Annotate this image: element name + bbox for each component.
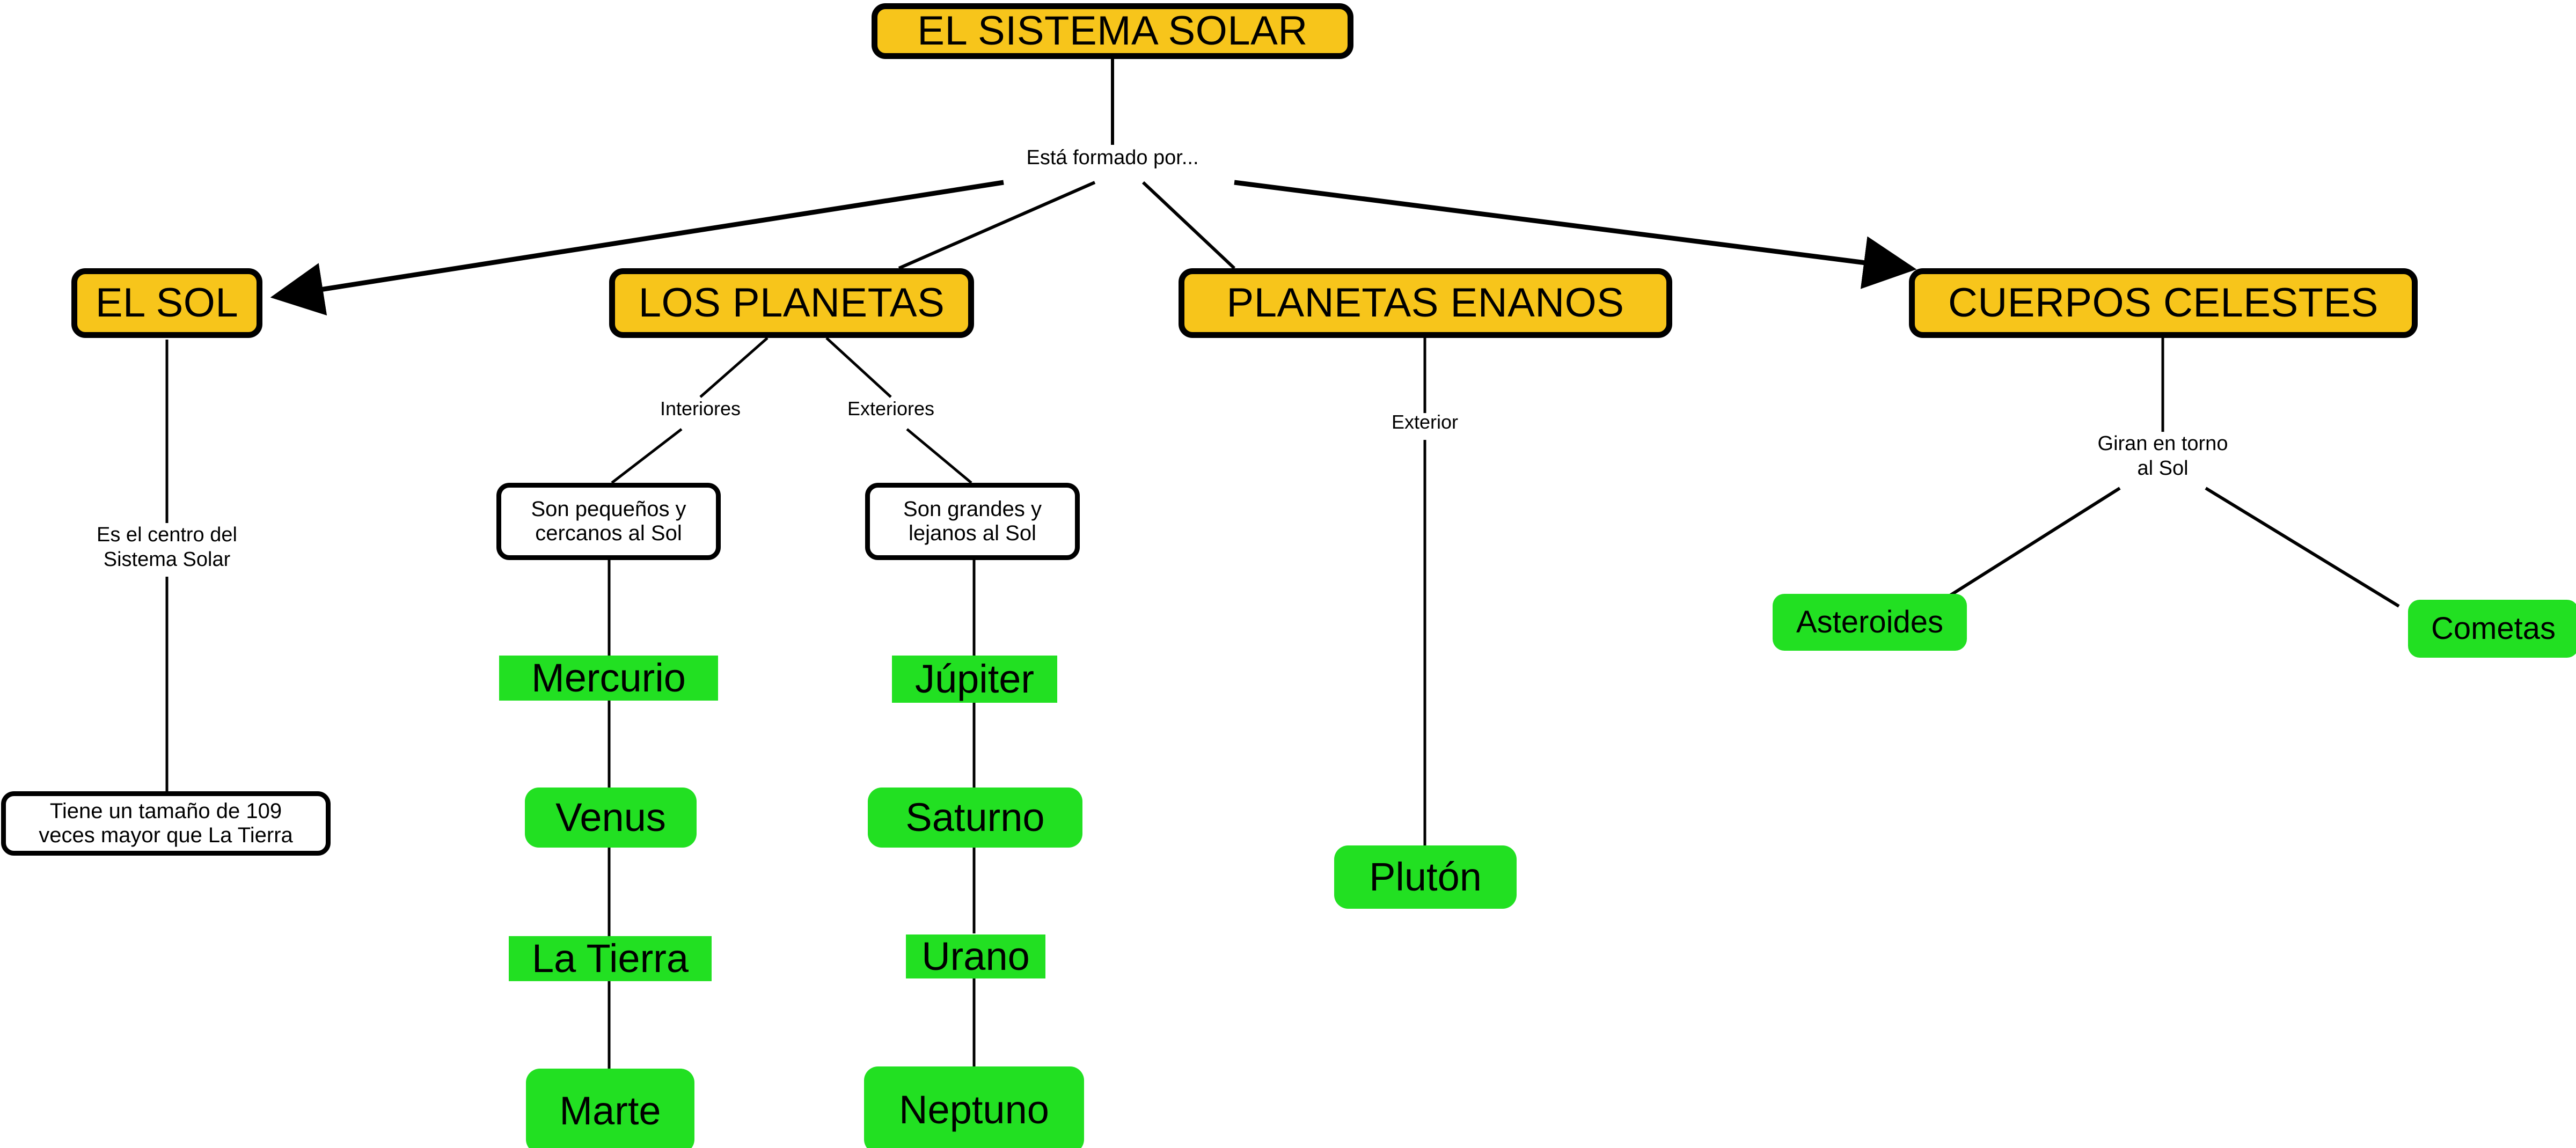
edge-planetas-to-interiores	[700, 338, 767, 397]
edge-label-interiores: Interiores	[609, 397, 792, 420]
node-cuerpos-celestes[interactable]: CUERPOS CELESTES	[1909, 268, 2418, 338]
edge-label-exteriores: Exteriores	[800, 397, 982, 420]
edge-cuerpos-label-to-asteroides	[1935, 488, 2120, 605]
edge-label-esta-formado-por: Está formado por...	[984, 146, 1241, 171]
edge-cuerpos-label-to-cometas	[2206, 488, 2399, 606]
node-planet-venus[interactable]: Venus	[525, 788, 697, 848]
node-planetas-exteriores-note[interactable]: Son grandes y lejanos al Sol	[865, 483, 1080, 560]
edge-planetas-to-exteriores	[826, 338, 891, 397]
node-el-sistema-solar[interactable]: EL SISTEMA SOLAR	[872, 3, 1353, 59]
node-body-asteroides[interactable]: Asteroides	[1773, 594, 1967, 651]
node-el-sol[interactable]: EL SOL	[71, 268, 262, 338]
edge-label-es-el-centro: Es el centro del Sistema Solar	[33, 523, 301, 572]
node-planetas-enanos[interactable]: PLANETAS ENANOS	[1179, 268, 1672, 338]
node-planet-mercurio[interactable]: Mercurio	[499, 656, 718, 701]
node-planet-neptuno[interactable]: Neptuno	[864, 1066, 1084, 1148]
node-sol-tamano-note[interactable]: Tiene un tamaño de 109 veces mayor que L…	[1, 791, 331, 856]
concept-map-canvas: EL SISTEMA SOLAR Está formado por... EL …	[0, 0, 2576, 1148]
node-planet-jupiter[interactable]: Júpiter	[892, 656, 1057, 703]
node-planet-urano[interactable]: Urano	[906, 934, 1045, 978]
edge-exteriores-to-note	[907, 429, 971, 483]
node-planet-marte[interactable]: Marte	[526, 1069, 694, 1148]
node-body-cometas[interactable]: Cometas	[2408, 600, 2576, 658]
node-planet-saturno[interactable]: Saturno	[868, 788, 1082, 848]
edge-interiores-to-note	[612, 429, 682, 483]
edge-junction-to-los-planetas	[899, 182, 1095, 268]
edge-label-giran-en-torno-al-sol: Giran en torno al Sol	[2034, 432, 2292, 481]
node-planet-la-tierra[interactable]: La Tierra	[509, 936, 712, 981]
connector-lines	[0, 0, 2576, 1148]
edge-label-exterior: Exterior	[1318, 410, 1532, 433]
node-los-planetas[interactable]: LOS PLANETAS	[609, 268, 974, 338]
edge-junction-to-planetas-enanos	[1143, 182, 1234, 268]
node-dwarf-pluton[interactable]: Plutón	[1334, 845, 1517, 909]
edge-junction-to-cuerpos-celestes	[1234, 182, 1908, 268]
node-planetas-interiores-note[interactable]: Son pequeños y cercanos al Sol	[496, 483, 721, 560]
